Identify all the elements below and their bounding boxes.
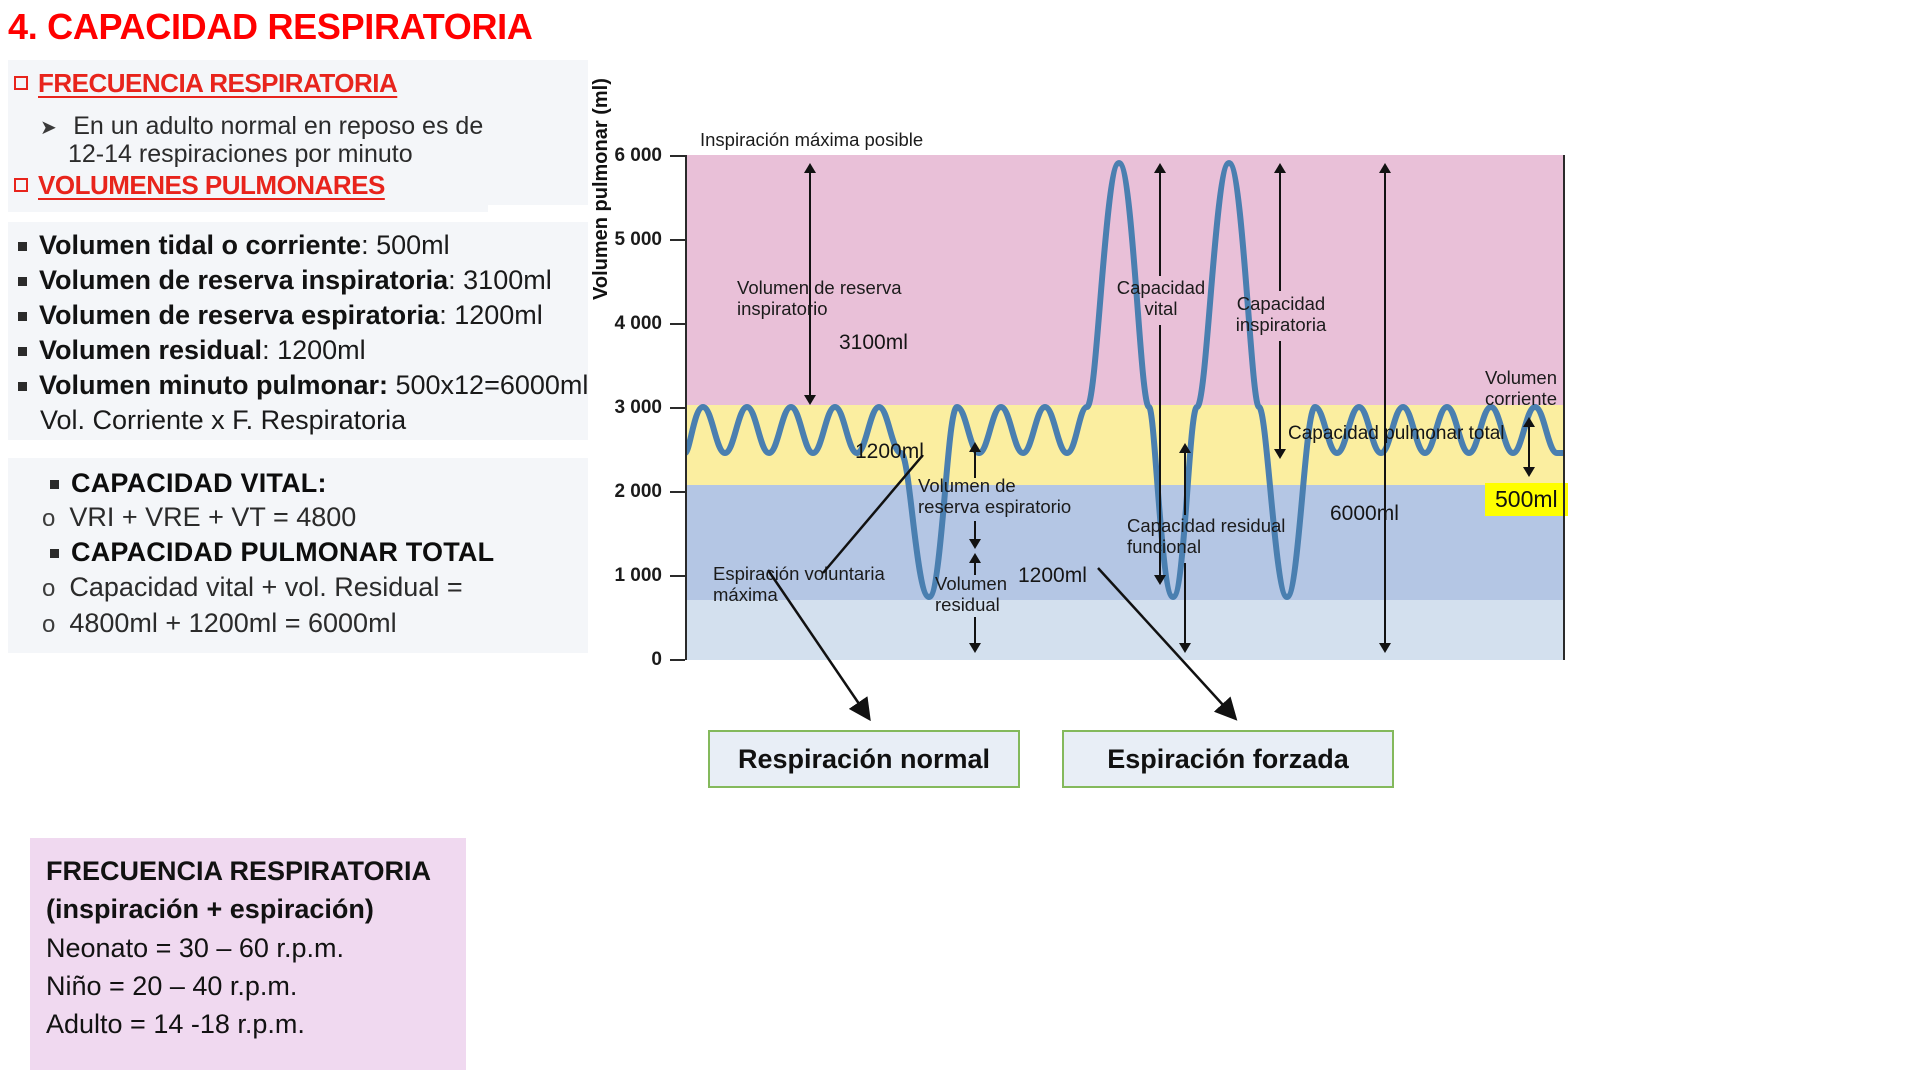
- frecuencia-respiratoria-box: FRECUENCIA RESPIRATORIA (inspiración + e…: [30, 838, 466, 1070]
- volumen-item-1-value: : 3100ml: [448, 265, 552, 295]
- circle-bullet-icon: o: [42, 505, 55, 532]
- vri-value: 3100ml: [839, 331, 908, 355]
- volumen-item-2: Volumen de reserva espiratoria: 1200ml: [18, 298, 543, 332]
- square-bullet-icon: [18, 312, 27, 321]
- volumen-item-4-label: Volumen minuto pulmonar:: [39, 370, 388, 400]
- y-tick-2000: [670, 491, 685, 493]
- square-bullet-icon: [14, 76, 28, 90]
- espiracion-leader-line: [805, 455, 1065, 615]
- volumenes-heading-row: VOLUMENES PULMONARES: [14, 170, 385, 201]
- cv-arrow-down-icon: [1154, 575, 1166, 585]
- volumen-item-0-label: Volumen tidal o corriente: [39, 230, 361, 260]
- capacidad-total-heading-row: CAPACIDAD PULMONAR TOTAL: [50, 535, 494, 570]
- volumen-item-1-label: Volumen de reserva inspiratoria: [39, 265, 448, 295]
- y-ticklabel-1000: 1 000: [600, 565, 662, 587]
- y-tick-5000: [670, 239, 685, 241]
- inspiracion-maxima-note: Inspiración máxima posible: [700, 129, 923, 150]
- crf-arrow-down-icon: [1179, 643, 1191, 653]
- frecuencia-line2-row: 12-14 respiraciones por minuto: [68, 140, 413, 170]
- y-axis-label: Volumen pulmonar (ml): [590, 78, 613, 300]
- page-title: 4. CAPACIDAD RESPIRATORIA: [8, 6, 533, 48]
- circle-bullet-icon: o: [42, 575, 55, 602]
- volumen-subnote: Vol. Corriente x F. Respiratoria: [40, 405, 406, 435]
- square-bullet-icon: [18, 347, 27, 356]
- frecuencia-line2: 12-14 respiraciones por minuto: [68, 140, 413, 168]
- capacidad-pulmonar-total-label: Capacidad pulmonar total: [1288, 423, 1505, 445]
- capacidad-vital-label: Capacidad vital: [1113, 277, 1209, 320]
- plot-area: Volumen de reserva inspiratorio 3100ml 1…: [685, 155, 1565, 660]
- square-bullet-icon: [14, 178, 28, 192]
- capacidad-total-result-row: o4800ml + 1200ml = 6000ml: [42, 606, 397, 641]
- y-axis-line: [685, 155, 687, 660]
- crf-arrow-line-top: [1184, 451, 1186, 515]
- capacidad-total-result: 4800ml + 1200ml = 6000ml: [69, 608, 396, 638]
- vri-arrow-down-icon: [804, 395, 816, 405]
- volumen-corriente-value: 500ml: [1485, 483, 1568, 516]
- vc-arrow-line: [1528, 425, 1530, 469]
- volumen-corriente-label: Volumen corriente: [1485, 367, 1557, 410]
- volumen-item-4: Volumen minuto pulmonar: 500x12=6000ml: [18, 368, 588, 402]
- volumen-item-3-value: : 1200ml: [262, 335, 366, 365]
- capacidad-vital-formula-row: oVRI + VRE + VT = 4800: [42, 500, 356, 535]
- y-ticklabel-2000: 2 000: [600, 481, 662, 503]
- ci-arrow-line-bottom: [1279, 341, 1281, 451]
- frecuencia-bullet-row: ➤ En un adulto normal en reposo es de: [40, 112, 560, 142]
- circle-bullet-icon: o: [42, 611, 55, 638]
- square-bullet-icon: [50, 480, 59, 489]
- fr-box-line4: Niño = 20 – 40 r.p.m.: [46, 967, 450, 1005]
- y-ticklabel-4000: 4 000: [600, 313, 662, 335]
- ci-arrow-down-icon: [1274, 449, 1286, 459]
- square-bullet-icon: [18, 277, 27, 286]
- volumen-item-3: Volumen residual: 1200ml: [18, 333, 366, 367]
- capacidad-vital-heading-row: CAPACIDAD VITAL:: [50, 466, 327, 501]
- vri-label: Volumen de reserva inspiratorio: [737, 277, 902, 320]
- fr-box-line5: Adulto = 14 -18 r.p.m.: [46, 1005, 450, 1043]
- square-bullet-icon: [18, 382, 27, 391]
- capacidad-inspiratoria-label: Capacidad inspiratoria: [1233, 293, 1329, 336]
- capacidad-total-heading: CAPACIDAD PULMONAR TOTAL: [71, 537, 494, 567]
- y-tick-1000: [670, 575, 685, 577]
- cpt-arrow-line: [1384, 171, 1386, 645]
- fr-box-line2: (inspiración + espiración): [46, 890, 450, 928]
- callout-espiracion-forzada[interactable]: Espiración forzada: [1062, 730, 1394, 788]
- arrow-bullet-icon: ➤: [40, 117, 57, 139]
- y-tick-3000: [670, 407, 685, 409]
- frecuencia-heading: FRECUENCIA RESPIRATORIA: [38, 68, 397, 98]
- crf-arrow-line-bottom: [1184, 563, 1186, 645]
- volumen-item-3-label: Volumen residual: [39, 335, 262, 365]
- fr-box-line3: Neonato = 30 – 60 r.p.m.: [46, 929, 450, 967]
- vc-arrow-down-icon: [1523, 467, 1535, 477]
- volumenes-heading: VOLUMENES PULMONARES: [38, 170, 385, 200]
- vr-arrow-down-icon: [969, 643, 981, 653]
- capacidad-total-formula-row: oCapacidad vital + vol. Residual =: [42, 570, 463, 605]
- volumen-item-2-value: : 1200ml: [439, 300, 543, 330]
- vr-arrow-line-bottom: [974, 617, 976, 645]
- y-ticklabel-3000: 3 000: [600, 397, 662, 419]
- frecuencia-line1: En un adulto normal en reposo es de: [73, 112, 483, 140]
- volumen-item-2-label: Volumen de reserva espiratoria: [39, 300, 439, 330]
- y-tick-4000: [670, 323, 685, 325]
- capacidad-residual-label: Capacidad residual funcional: [1127, 515, 1285, 558]
- spirogram-figure: Volumen de reserva inspiratorio 3100ml 1…: [600, 120, 1920, 800]
- square-bullet-icon: [18, 242, 27, 251]
- capacidad-total-formula: Capacidad vital + vol. Residual =: [69, 572, 462, 602]
- plot-right-border: [1563, 155, 1565, 660]
- volumen-subnote-row: Vol. Corriente x F. Respiratoria: [40, 403, 406, 437]
- capacidad-pulmonar-total-value: 6000ml: [1330, 502, 1399, 526]
- callout-respiracion-normal[interactable]: Respiración normal: [708, 730, 1020, 788]
- y-ticklabel-0: 0: [600, 649, 662, 671]
- cv-arrow-line-top: [1159, 171, 1161, 276]
- callout-respiracion-normal-label: Respiración normal: [738, 744, 990, 775]
- square-bullet-icon: [50, 549, 59, 558]
- volumen-item-0-value: : 500ml: [361, 230, 450, 260]
- frecuencia-heading-row: FRECUENCIA RESPIRATORIA: [14, 68, 397, 99]
- volumen-item-4-value: 500x12=6000ml: [388, 370, 588, 400]
- volumen-item-0: Volumen tidal o corriente: 500ml: [18, 228, 450, 262]
- capacidad-vital-heading: CAPACIDAD VITAL:: [71, 468, 327, 498]
- volumen-item-1: Volumen de reserva inspiratoria: 3100ml: [18, 263, 552, 297]
- y-tick-6000: [670, 155, 685, 157]
- fr-box-line1: FRECUENCIA RESPIRATORIA: [46, 852, 450, 890]
- callout-espiracion-forzada-label: Espiración forzada: [1107, 744, 1349, 775]
- ci-arrow-line-top: [1279, 171, 1281, 291]
- y-tick-0: [670, 659, 685, 661]
- cpt-arrow-down-icon: [1379, 643, 1391, 653]
- capacidad-vital-formula: VRI + VRE + VT = 4800: [69, 502, 356, 532]
